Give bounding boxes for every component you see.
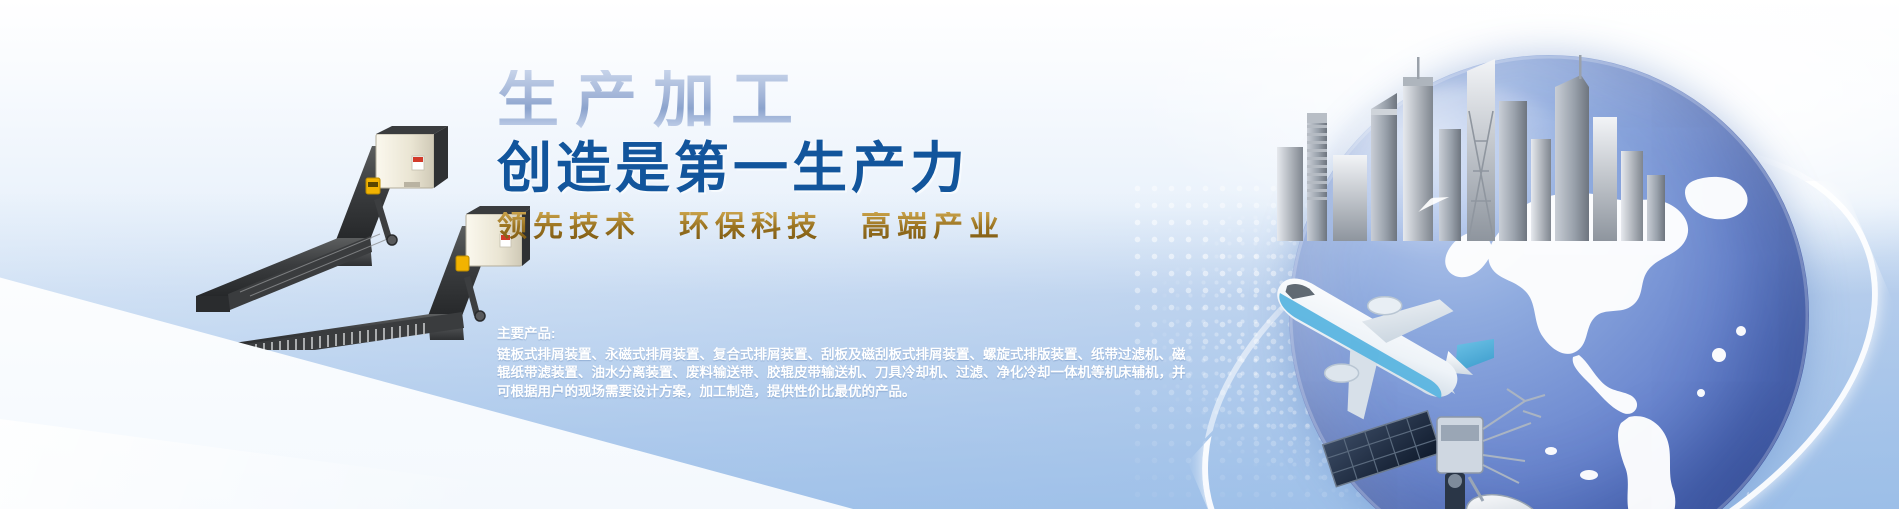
- tagline-row: 领先技术环保科技高端产业: [497, 212, 1477, 242]
- tagline-2: 环保科技: [679, 210, 823, 243]
- headline-block: 生产加工 创造是第一生产力 领先技术环保科技高端产业: [497, 70, 1477, 242]
- airplane-icon: [1234, 230, 1494, 450]
- tagline-1: 领先技术: [497, 210, 641, 243]
- headline-primary: 生产加工: [497, 70, 1477, 132]
- tagline-3: 高端产业: [861, 210, 1005, 243]
- chip-conveyor-machines-icon: [140, 120, 530, 350]
- headline-secondary: 创造是第一生产力: [497, 140, 1477, 198]
- promo-banner: 生产加工 创造是第一生产力 领先技术环保科技高端产业 主要产品: 链板式排屑装置…: [0, 0, 1899, 509]
- satellite-icon: [1319, 345, 1579, 509]
- products-label: 主要产品:: [497, 325, 1197, 344]
- products-text: 链板式排屑装置、永磁式排屑装置、复合式排屑装置、刮板及磁刮板式排屑装置、螺旋式排…: [497, 346, 1197, 402]
- product-description-block: 主要产品: 链板式排屑装置、永磁式排屑装置、复合式排屑装置、刮板及磁刮板式排屑装…: [497, 325, 1197, 401]
